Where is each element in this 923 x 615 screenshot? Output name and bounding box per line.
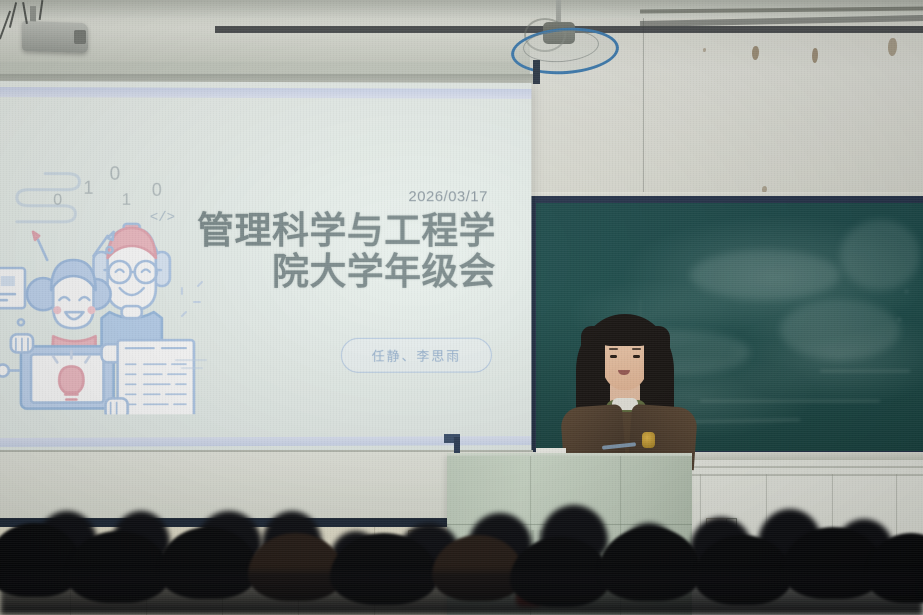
slide-date: 2026/03/17 — [408, 188, 487, 205]
audience-rows — [0, 495, 923, 615]
slide-title: 管理科学与工程学 院大学年级会 — [167, 210, 496, 293]
presenter-names-badge: 任静、李思雨 — [341, 338, 492, 373]
chalk-streak — [898, 318, 901, 321]
chalk-streak — [905, 290, 908, 293]
presenter-brow-left — [609, 348, 618, 350]
audience-foreground-mass — [0, 571, 923, 615]
lecture-hall-scene: 0 1 0 1 0 — [0, 0, 923, 615]
slide-top-band — [0, 87, 531, 99]
binary-digit: 0 — [110, 164, 121, 186]
presenter-eye-left — [610, 355, 617, 358]
presenter-brow-right — [632, 348, 641, 350]
slide-title-line-2: 院大学年级会 — [167, 251, 496, 293]
projector-lens-icon — [74, 30, 86, 44]
chalk-smudge — [840, 220, 920, 290]
presenter-eye-right — [633, 355, 640, 358]
projection-screen: 0 1 0 1 0 — [0, 81, 531, 455]
presenter-figure — [556, 308, 696, 460]
presentation-slide: 0 1 0 1 0 — [0, 81, 531, 455]
presenter-badge-icon — [642, 432, 655, 448]
wall-seam — [643, 18, 644, 203]
chalk-streak — [700, 400, 880, 402]
chalk-streak — [820, 370, 910, 372]
fan-support-pole — [533, 60, 540, 84]
dash-decoration-icon — [172, 354, 212, 378]
chalk-smudge — [780, 300, 900, 360]
chalk-smudge — [690, 250, 840, 300]
slide-title-line-1: 管理科学与工程学 — [167, 210, 496, 252]
